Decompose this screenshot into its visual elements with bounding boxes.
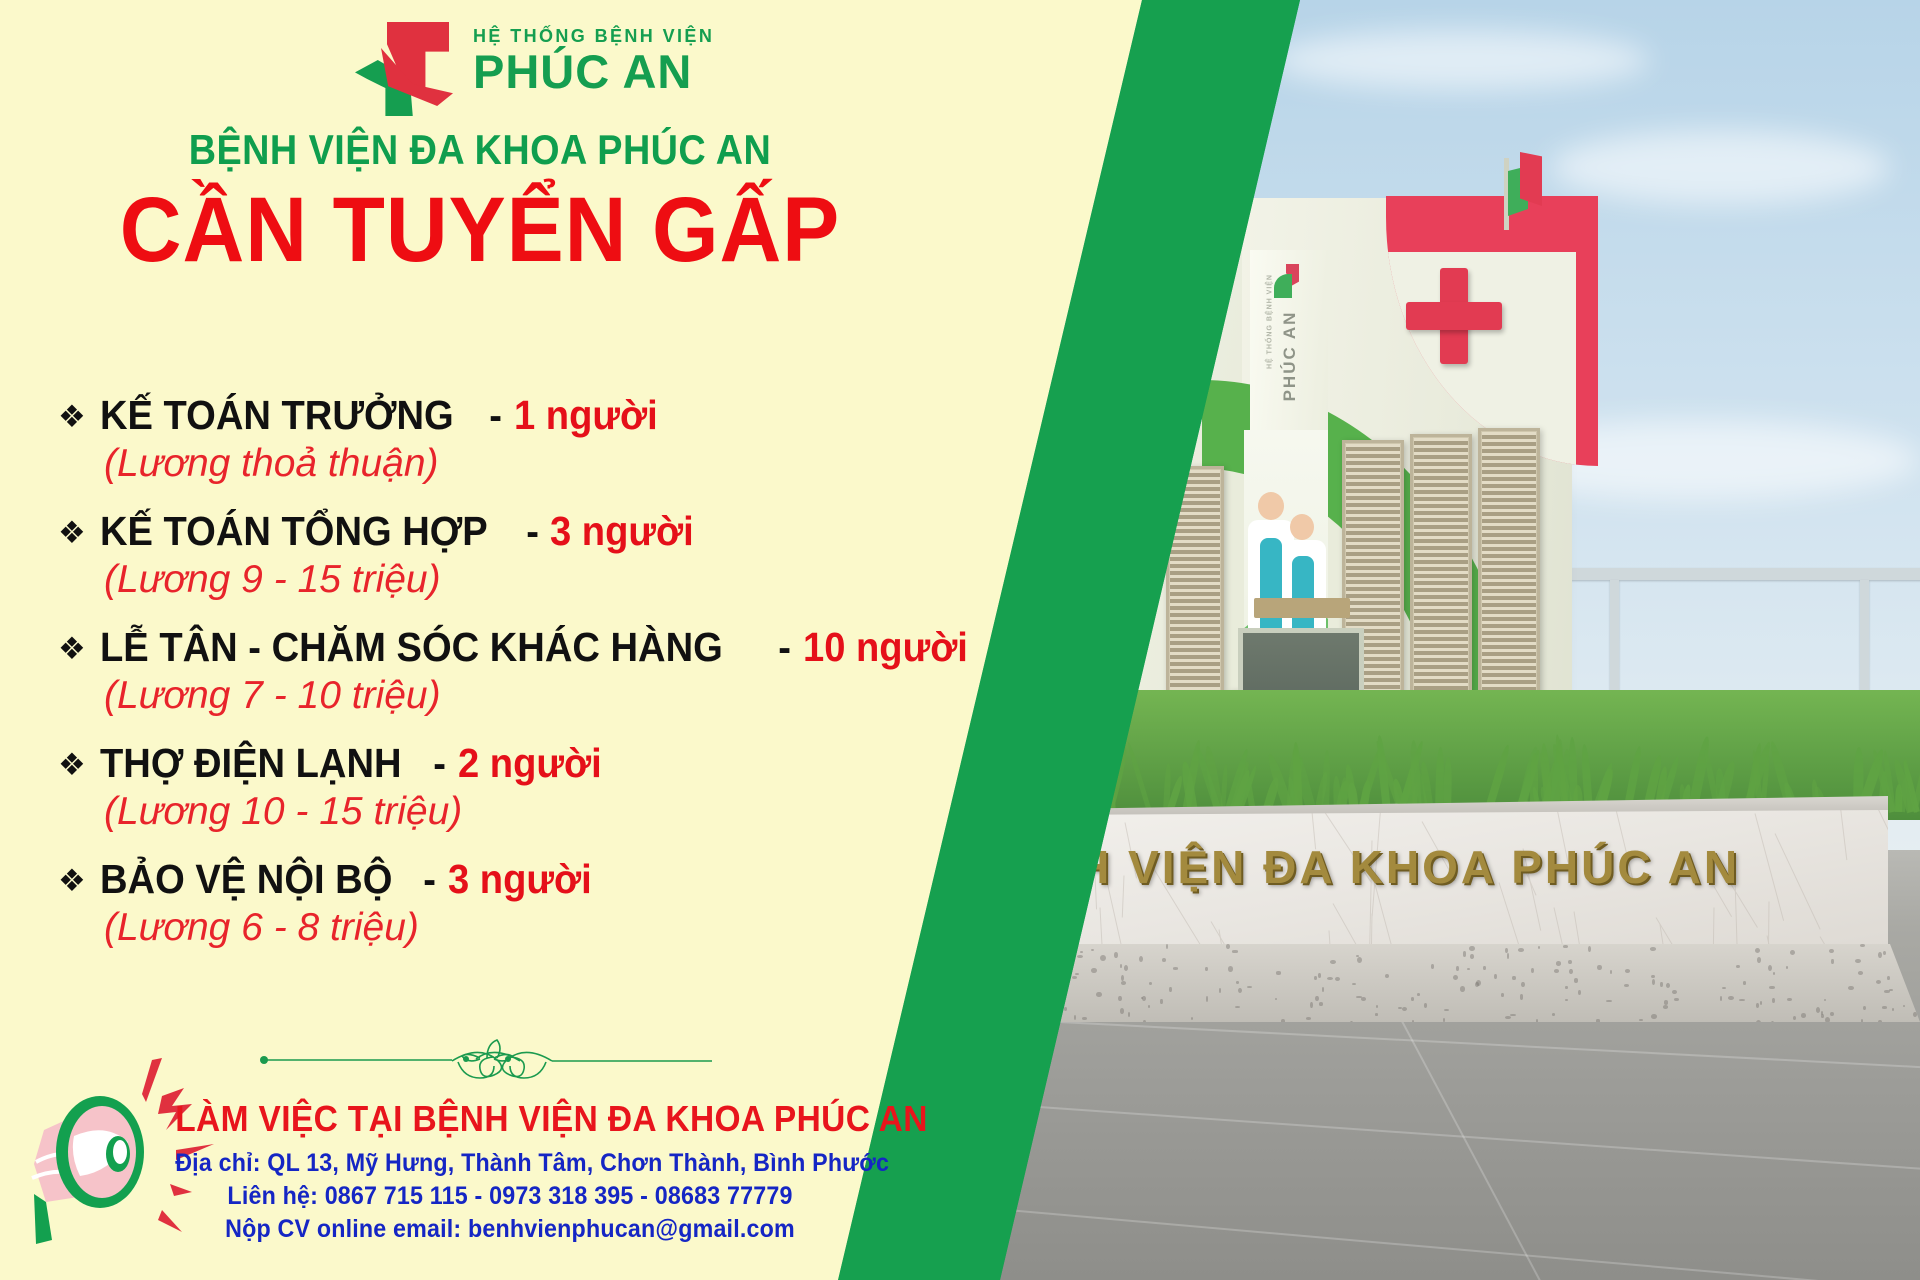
footer-contact: Liên hệ: 0867 715 115 - 0973 318 395 - 0… [175,1180,845,1213]
speck [1456,966,1459,970]
speck [1018,989,1021,994]
speck [1903,1005,1906,1007]
speck [1855,959,1861,963]
speck [1049,946,1053,951]
speck [1883,951,1886,955]
speck [1036,992,1041,994]
job-title: THỢ ĐIỆN LẠNH [100,740,402,787]
speck [1821,1014,1825,1018]
hospital-name-heading: BỆNH VIỆN ĐA KHOA PHÚC AN [48,126,912,174]
speck [1882,1006,1886,1009]
speck [1829,949,1834,953]
speck [1554,969,1559,973]
speck [1816,1007,1820,1013]
speck [1505,1016,1511,1019]
speck [1375,1013,1379,1016]
window [1052,496,1112,572]
speck [1247,986,1252,988]
speck [1565,999,1568,1001]
speck [1424,1003,1427,1007]
speck [1769,986,1775,990]
grass-blade [1435,747,1445,812]
job-item: ❖THỢ ĐIỆN LẠNH-2 người(Lương 10 - 15 tri… [58,740,938,834]
job-dash: - [480,392,511,439]
marble-vein [1100,907,1103,948]
tower-vertical-sign: HỆ THỐNG BỆNH VIỆN PHÚC AN [1250,250,1328,440]
speck [1327,977,1333,980]
speck [1606,1000,1612,1002]
speck [961,1000,966,1005]
speck [1887,976,1890,980]
speck [1878,952,1882,958]
speck [1275,998,1278,1001]
speck [1453,975,1458,980]
job-dash: - [424,740,455,787]
speck [1736,965,1739,968]
speck [1330,960,1336,964]
speck [1114,952,1118,957]
speck [1235,1006,1240,1008]
speck [1470,954,1474,959]
speck [1660,982,1662,987]
speck [1793,1016,1796,1020]
speck [1565,986,1568,990]
diamond-bullet-icon: ❖ [58,401,86,432]
job-list: ❖KẾ TOÁN TRƯỞNG-1 người(Lương thoả thuận… [58,392,938,972]
job-item: ❖BẢO VỆ NỘI BỘ-3 người(Lương 6 - 8 triệu… [58,856,938,950]
job-count: 10 người [803,624,968,671]
speck [1469,946,1475,951]
footer: LÀM VIỆC TẠI BỆNH VIỆN ĐA KHOA PHÚC AN Đ… [150,1098,870,1246]
speck [986,1007,989,1010]
job-dash: - [769,624,800,671]
speck [1674,998,1679,1002]
wing-column [1122,466,1133,720]
speck [1072,976,1077,979]
job-title: LỄ TÂN - CHĂM SÓC KHÁC HÀNG [100,624,723,671]
speck [1773,972,1776,975]
speck [972,1004,977,1008]
speck [971,999,976,1003]
speck [1042,1000,1046,1003]
speck [1169,987,1171,992]
red-cross-icon [1406,268,1502,364]
speck [1863,1006,1866,1010]
speck [1310,1002,1312,1008]
speck [1335,977,1340,982]
diamond-bullet-icon: ❖ [58,517,86,548]
speck [1385,974,1389,978]
job-title-row: ❖KẾ TOÁN TỔNG HỢP-3 người [58,508,938,555]
speck [1756,1003,1759,1008]
job-dash: - [414,856,445,903]
speck [1556,961,1562,965]
speck [1666,983,1670,989]
diamond-bullet-icon: ❖ [58,633,86,664]
speck [1848,986,1853,990]
diamond-bullet-icon: ❖ [58,749,86,780]
speck [1672,990,1677,994]
speck [1096,992,1101,997]
job-count: 3 người [448,856,592,903]
job-salary: (Lương 9 - 15 triệu) [104,558,938,602]
speck [1080,951,1083,953]
speck [1149,982,1152,986]
speck [1538,946,1540,949]
speck [1501,993,1504,997]
speck [1574,978,1578,982]
speck [1597,965,1602,970]
speck [1232,950,1237,952]
speck [1520,994,1524,999]
hospital-photo: PHÚC AN HỆ THỐNG BỆNH VIỆN PHÚC AN [850,0,1920,1280]
content-panel: HỆ THỐNG BỆNH VIỆN PHÚC AN BỆNH VIỆN ĐA … [0,0,960,1280]
job-title: KẾ TOÁN TỔNG HỢP [100,508,488,555]
speck [1120,1008,1124,1014]
speck [1238,988,1242,993]
speck [1071,948,1074,953]
job-item: ❖KẾ TOÁN TỔNG HỢP-3 người(Lương 9 - 15 t… [58,508,938,602]
entrance-sign [1254,598,1350,618]
speck [1743,981,1747,984]
speck [1760,1001,1762,1005]
wing-column [1032,468,1043,720]
speck [1128,1012,1130,1017]
speck [1120,964,1122,968]
brand-logo: HỆ THỐNG BỆNH VIỆN PHÚC AN [355,22,775,114]
window [1052,608,1112,684]
speck [1173,967,1178,969]
job-item: ❖KẾ TOÁN TRƯỞNG-1 người(Lương thoả thuận… [58,392,938,486]
speck [1913,1012,1917,1017]
speck [1357,957,1362,963]
speck [1772,998,1775,1004]
job-title-row: ❖BẢO VỆ NỘI BỘ-3 người [58,856,938,903]
speck [1100,955,1106,961]
speck [1739,999,1745,1001]
flag-icon [1504,152,1544,230]
speck [1417,993,1420,996]
speck [1790,950,1795,955]
speck [1402,1007,1407,1011]
speck [993,949,996,955]
speck [1831,959,1833,963]
speck [1236,981,1239,983]
speck [977,1002,981,1004]
speck [1876,980,1881,984]
speck [1166,944,1168,949]
speck [1460,986,1465,991]
speck [1160,999,1162,1003]
speck [1860,944,1865,947]
speck [1892,1008,1894,1011]
speck [1118,996,1121,1001]
monument-sign-text: BỆNH VIỆN ĐA KHOA PHÚC AN [850,840,1860,894]
speck [1768,965,1772,971]
speck [1322,987,1325,992]
speck [1652,979,1655,985]
speck [1226,944,1230,948]
job-salary: (Lương 6 - 8 triệu) [104,906,938,950]
speck [1625,969,1630,973]
speck [1091,949,1094,951]
speck [1568,960,1572,965]
speck [1512,976,1515,981]
speck [1578,990,1581,995]
speck [1041,949,1047,953]
speck [1142,996,1146,1001]
speck [1494,974,1497,980]
job-title: BẢO VỆ NỘI BỘ [100,856,392,903]
speck [1074,1015,1076,1020]
marble-vein [1020,889,1029,950]
speck [1510,1014,1516,1016]
speck [1026,951,1029,955]
speck [1858,971,1864,975]
speck [1219,988,1222,993]
speck [1091,968,1097,973]
speck [1755,948,1760,953]
speck [1064,1007,1068,1011]
speck [1610,970,1612,975]
hospital-cross-logo-icon [355,22,459,114]
speck [1531,968,1534,974]
speck [1054,995,1060,999]
speck [1376,1005,1378,1008]
speck [1757,957,1761,963]
footer-address: Địa chỉ: QL 13, Mỹ Hưng, Thành Tâm, Chơn… [175,1147,845,1180]
footer-title: LÀM VIỆC TẠI BỆNH VIỆN ĐA KHOA PHÚC AN [175,1098,845,1140]
speck [1206,996,1208,1002]
speck [1205,967,1208,971]
tower-sign-text: PHÚC AN [1280,292,1300,420]
speck [1722,987,1726,989]
job-title-row: ❖THỢ ĐIỆN LẠNH-2 người [58,740,938,787]
speck [1664,1000,1669,1005]
speck [1314,976,1317,980]
speck [1139,956,1143,962]
job-title-row: ❖LỄ TÂN - CHĂM SÓC KHÁC HÀNG-10 người [58,624,938,671]
speck [1650,947,1656,950]
speck [1443,1018,1445,1022]
job-salary: (Lương 7 - 10 triệu) [104,674,938,718]
job-dash: - [517,508,548,555]
job-item: ❖LỄ TÂN - CHĂM SÓC KHÁC HÀNG-10 người(Lư… [58,624,938,718]
tower-sign-small-text: HỆ THỐNG BỆNH VIỆN [1267,258,1274,386]
speck [1889,989,1893,992]
speck [1063,953,1067,955]
speck [1411,997,1415,1001]
speck [1801,1013,1806,1018]
speck [1009,1014,1012,1017]
speck [1318,973,1322,978]
speck [1148,1005,1151,1008]
speck [1306,1017,1312,1020]
speck [1463,951,1467,956]
speck [1787,998,1792,1001]
logo-subtitle: HỆ THỐNG BỆNH VIỆN [473,26,773,47]
speck [1552,1013,1555,1016]
speck [1507,953,1509,959]
speck [1786,966,1789,969]
speck [1588,946,1591,951]
speck [1467,968,1470,970]
job-count: 2 người [458,740,602,787]
speck [1830,1012,1834,1016]
job-title-row: ❖KẾ TOÁN TRƯỞNG-1 người [58,392,938,439]
speck [1521,982,1525,988]
speck [1315,996,1318,1001]
speck [1121,981,1127,985]
speck [1352,983,1356,985]
speck [1824,999,1826,1001]
speck [1276,971,1281,974]
footer-email[interactable]: Nộp CV online email: benhvienphucan@gmai… [175,1213,845,1246]
speck [1444,1009,1449,1011]
speck [1041,1005,1045,1009]
speck [1045,989,1051,993]
speck [1475,982,1479,988]
job-count: 1 người [514,392,658,439]
job-salary: (Lương thoả thuận) [104,442,938,486]
page-title: CẦN TUYỂN GẤP [34,182,927,279]
speck [1825,1017,1830,1023]
logo-name: PHÚC AN [473,49,773,94]
speck [1124,965,1128,971]
speck [967,1003,970,1008]
speck [1663,1005,1669,1009]
speck [1228,966,1234,972]
speck [1483,966,1485,970]
speck [1651,975,1655,979]
speck [1002,1020,1006,1022]
speck [1518,948,1524,952]
cloud [1270,30,1650,90]
speck [1162,958,1167,962]
speck [1077,955,1083,958]
speck [1651,1014,1657,1018]
speck [1563,945,1568,948]
speck [1431,964,1435,969]
diamond-bullet-icon: ❖ [58,865,86,896]
speck [1003,1016,1008,1020]
speck [977,960,982,962]
window [962,610,1022,684]
cloud [1550,130,1890,205]
job-salary: (Lương 10 - 15 triệu) [104,790,938,834]
speck [1075,973,1080,976]
speck [978,1006,984,1009]
job-count: 3 người [550,508,694,555]
speck [1569,969,1573,974]
speck [1720,996,1722,1000]
speck [1319,1002,1323,1005]
speck [1361,997,1366,1001]
speck [971,955,975,958]
window [962,498,1022,572]
speck [1121,975,1124,981]
speck [1082,1017,1087,1020]
monument-base [850,944,1920,1022]
floral-divider-icon [252,1036,722,1082]
job-title: KẾ TOÁN TRƯỞNG [100,392,454,439]
speck [1624,984,1629,987]
speck [1728,996,1734,1000]
speck [1191,1017,1193,1020]
